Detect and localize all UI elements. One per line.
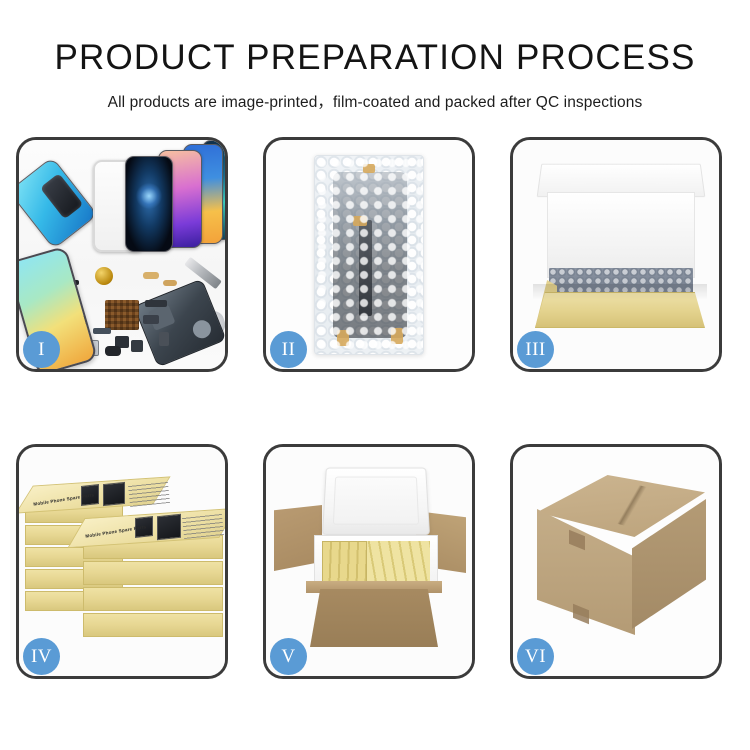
page-subtitle: All products are image-printed，film-coat… (0, 90, 750, 112)
phone-film-icon (19, 157, 98, 250)
chip-grid-icon (105, 300, 139, 330)
part-icon (143, 315, 159, 324)
part-icon (163, 280, 177, 286)
step-badge-6: VI (517, 638, 554, 675)
part-icon (105, 346, 121, 356)
step-badge-1: I (23, 331, 60, 368)
step-badge-4: IV (23, 638, 60, 675)
stacked-box (83, 587, 223, 611)
carton-front-panel (310, 589, 438, 647)
process-step-6: VI (510, 444, 722, 679)
bubble-texture-overlay (315, 156, 423, 354)
inner-boxes-row (366, 541, 430, 583)
foam-lid-icon (322, 468, 430, 535)
process-step-4: Mobile Phone Spare Parts Mobile Phone Sp… (16, 444, 228, 679)
part-icon (131, 340, 143, 352)
process-step-2: II (263, 137, 475, 372)
box-print-text-lines (128, 481, 170, 507)
process-step-1: I (16, 137, 228, 372)
box-back-panel (547, 192, 695, 278)
box-inner-shadow (533, 284, 707, 300)
page-root: PRODUCT PREPARATION PROCESS All products… (0, 0, 750, 750)
stacked-box (83, 561, 223, 585)
process-step-3: III (510, 137, 722, 372)
step-badge-2: II (270, 331, 307, 368)
part-icon (143, 272, 159, 279)
speaker-part-icon (95, 267, 113, 285)
process-step-grid: I II (16, 137, 734, 679)
bubble-wrap-bag (314, 155, 424, 355)
part-icon (159, 332, 169, 346)
stacked-box (83, 613, 223, 637)
box-print-text-lines (182, 513, 224, 539)
box-print-window (103, 482, 125, 506)
box-stack: Mobile Phone Spare Parts Mobile Phone Sp… (23, 473, 225, 663)
process-step-5: V (263, 444, 475, 679)
part-icon (145, 300, 167, 307)
step-badge-3: III (517, 331, 554, 368)
part-icon (93, 328, 111, 334)
page-title: PRODUCT PREPARATION PROCESS (0, 38, 750, 78)
phone-dark-screen-icon (125, 156, 173, 252)
step-badge-5: V (270, 638, 307, 675)
box-print-window (157, 514, 181, 541)
header: PRODUCT PREPARATION PROCESS All products… (0, 0, 750, 112)
